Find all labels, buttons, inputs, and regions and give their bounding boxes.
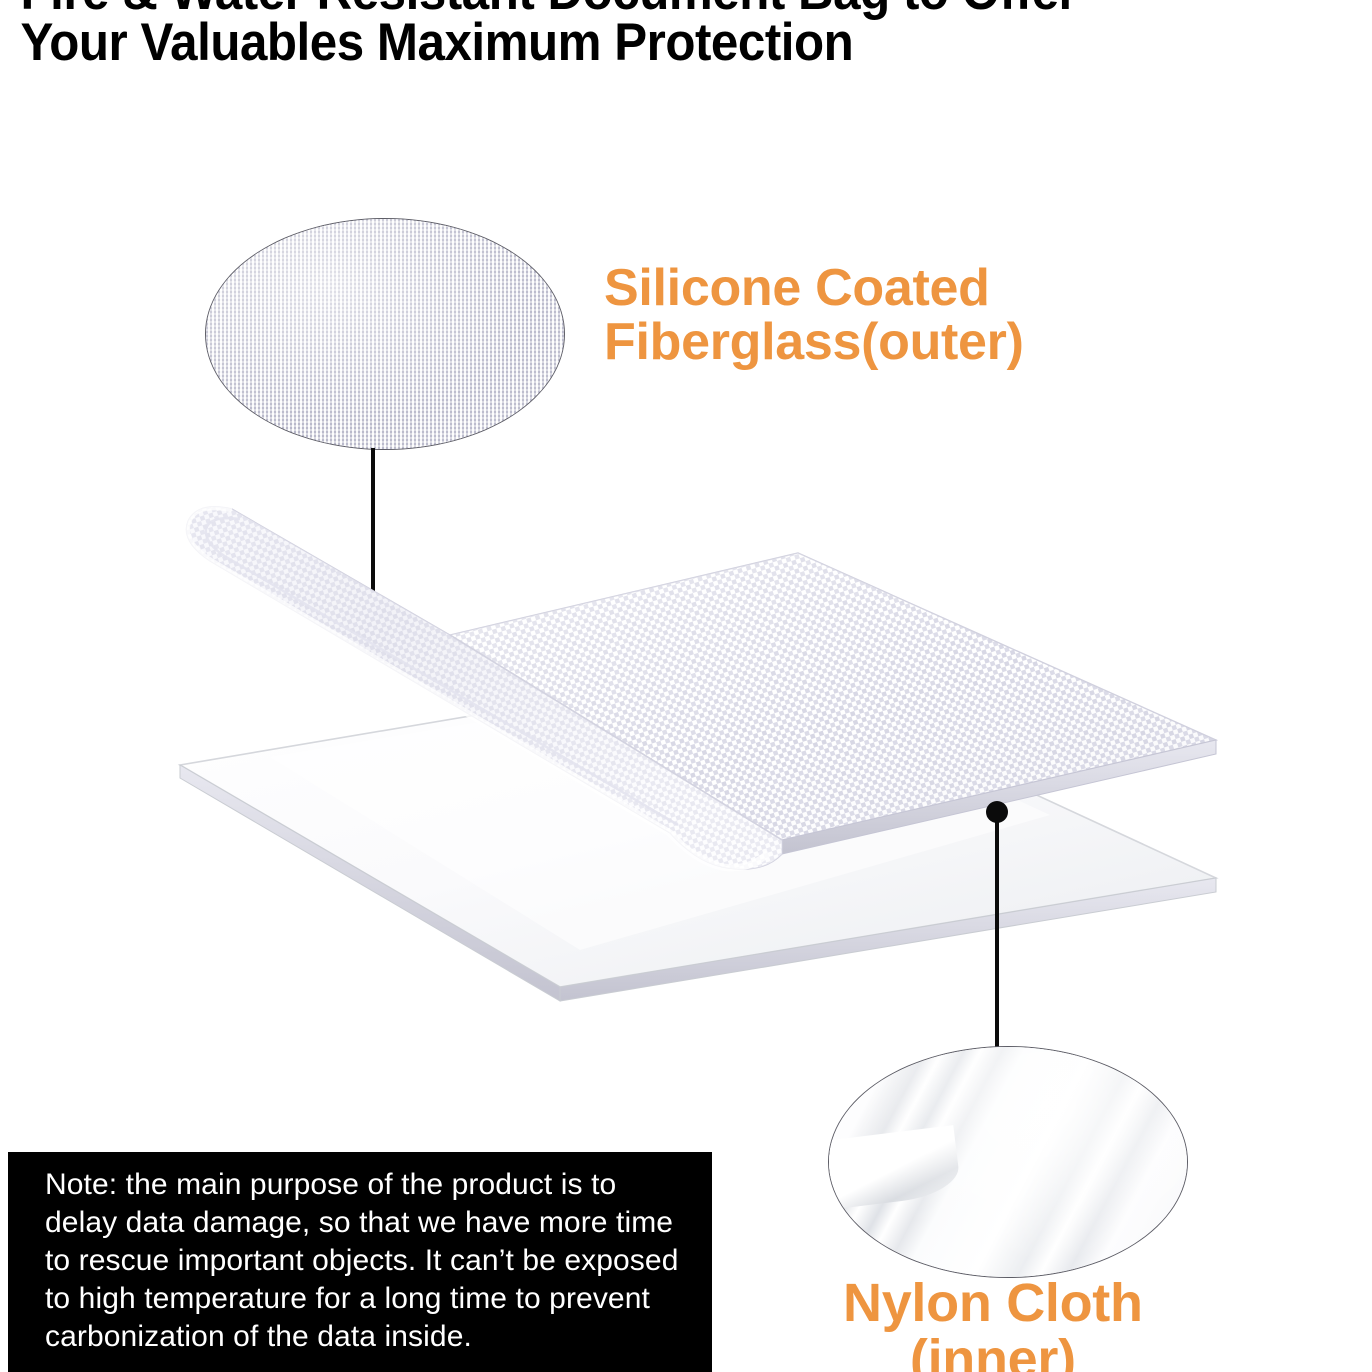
fiberglass-swatch-oval xyxy=(205,218,565,450)
callout-label-inner-line-2: (inner) xyxy=(843,1332,1143,1372)
nylon-swatch-oval xyxy=(828,1046,1188,1278)
page-title-line-2: Your Valuables Maximum Protection xyxy=(0,17,1276,68)
layer-diagram xyxy=(150,495,1240,1015)
page-title: Fire & Water Resistant Document Bag to O… xyxy=(0,0,1372,92)
leader-dot-inner xyxy=(986,801,1008,823)
callout-label-inner: Nylon Cloth (inner) xyxy=(843,1276,1143,1372)
callout-label-inner-line-1: Nylon Cloth xyxy=(843,1276,1143,1332)
swatch-highlight xyxy=(206,219,564,449)
callout-label-outer-line-2: Fiberglass(outer) xyxy=(604,316,1024,370)
note-box: Note: the main purpose of the product is… xyxy=(8,1152,712,1372)
callout-label-outer-line-1: Silicone Coated xyxy=(604,262,1024,316)
callout-label-outer: Silicone Coated Fiberglass(outer) xyxy=(604,262,1024,369)
infographic-canvas: Fire & Water Resistant Document Bag to O… xyxy=(0,0,1372,1372)
layer-diagram-svg xyxy=(150,495,1240,1015)
swatch-highlight xyxy=(829,1047,1187,1277)
note-text: Note: the main purpose of the product is… xyxy=(45,1166,693,1356)
leader-line-inner xyxy=(995,818,999,1050)
